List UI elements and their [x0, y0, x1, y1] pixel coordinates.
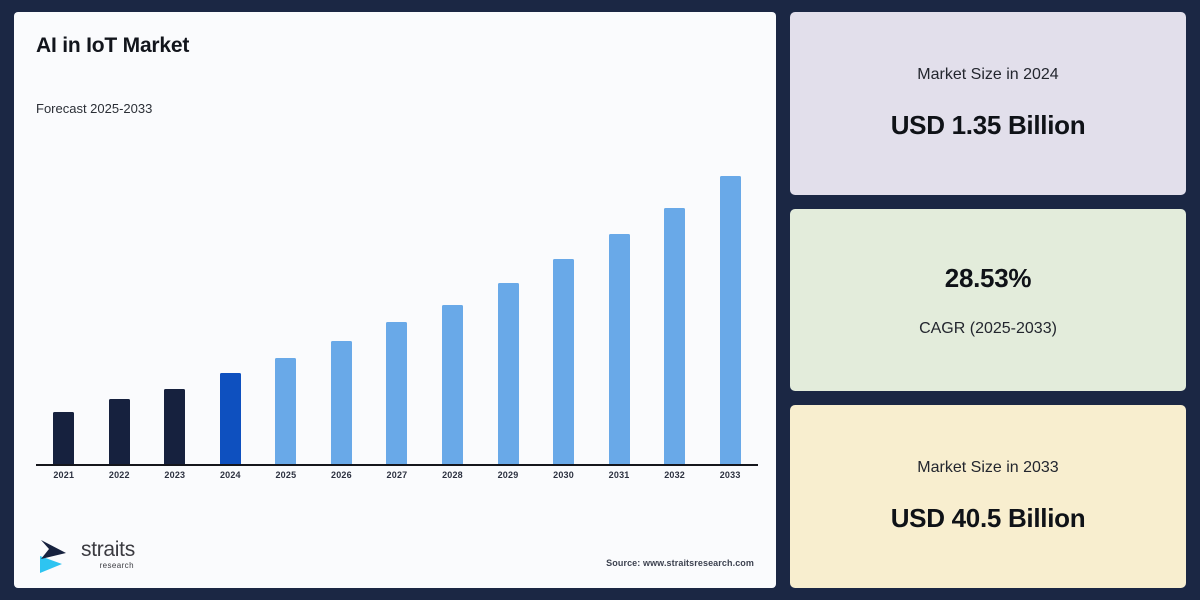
bar-2027[interactable] — [386, 322, 407, 464]
stat-label-market-size-2033: Market Size in 2033 — [917, 459, 1058, 477]
bar-slot — [702, 174, 758, 464]
straits-research-logo: straits research — [36, 534, 135, 574]
x-axis-label-2028: 2028 — [425, 470, 481, 480]
bar-2025[interactable] — [275, 358, 296, 464]
source-attribution: Source: www.straitsresearch.com — [606, 558, 754, 574]
stat-card-cagr: 28.53%CAGR (2025-2033) — [790, 209, 1186, 392]
x-axis-label-2023: 2023 — [147, 470, 203, 480]
logo-subword: research — [100, 562, 134, 570]
bar-slot — [36, 174, 92, 464]
x-axis-label-2030: 2030 — [536, 470, 592, 480]
bar-2031[interactable] — [609, 234, 630, 464]
bar-2026[interactable] — [331, 341, 352, 464]
x-axis-label-2033: 2033 — [702, 470, 758, 480]
bar-slot — [258, 174, 314, 464]
stat-card-market-size-2024: Market Size in 2024USD 1.35 Billion — [790, 12, 1186, 195]
bar-2030[interactable] — [553, 259, 574, 464]
chart-subtitle: Forecast 2025-2033 — [34, 101, 756, 116]
bar-slot — [480, 174, 536, 464]
stat-card-market-size-2033: Market Size in 2033USD 40.5 Billion — [790, 405, 1186, 588]
bar-slot — [425, 174, 481, 464]
chart-title: AI in IoT Market — [34, 34, 756, 58]
stat-card-list: Market Size in 2024USD 1.35 Billion28.53… — [790, 12, 1186, 588]
logo-word: straits — [81, 539, 135, 560]
bar-chart-plot-area — [36, 160, 758, 466]
stat-value-market-size-2033: USD 40.5 Billion — [891, 503, 1086, 534]
stat-value-cagr: 28.53% — [945, 263, 1031, 294]
bar-slot — [647, 174, 703, 464]
straits-research-arrow-logo-icon — [36, 534, 74, 574]
x-axis-line — [36, 464, 758, 466]
stat-label-cagr: CAGR (2025-2033) — [919, 320, 1057, 338]
bar-slot — [536, 174, 592, 464]
bar-2023[interactable] — [164, 389, 185, 464]
bar-2028[interactable] — [442, 305, 463, 464]
x-axis-label-2021: 2021 — [36, 470, 92, 480]
bar-2033[interactable] — [720, 176, 741, 464]
bar-2021[interactable] — [53, 412, 74, 464]
x-axis-label-2029: 2029 — [480, 470, 536, 480]
bar-2022[interactable] — [109, 399, 130, 464]
bar-slot — [591, 174, 647, 464]
x-axis-label-2022: 2022 — [92, 470, 148, 480]
bar-slot — [203, 174, 259, 464]
x-axis-label-2032: 2032 — [647, 470, 703, 480]
bar-slot — [92, 174, 148, 464]
x-axis-label-2027: 2027 — [369, 470, 425, 480]
x-axis-label-2024: 2024 — [203, 470, 259, 480]
bar-2032[interactable] — [664, 208, 685, 464]
bar-2029[interactable] — [498, 283, 519, 464]
stat-label-market-size-2024: Market Size in 2024 — [917, 66, 1058, 84]
chart-footer: straits research Source: www.straitsrese… — [36, 534, 754, 574]
bar-2024[interactable] — [220, 373, 241, 464]
stat-value-market-size-2024: USD 1.35 Billion — [891, 110, 1086, 141]
bar-slot — [314, 174, 370, 464]
bar-slot — [369, 174, 425, 464]
x-axis-label-2026: 2026 — [314, 470, 370, 480]
x-axis-tick-labels: 2021202220232024202520262027202820292030… — [36, 470, 758, 480]
bar-series — [36, 174, 758, 464]
x-axis-label-2031: 2031 — [591, 470, 647, 480]
logo-wordmark: straits research — [81, 539, 135, 570]
bar-slot — [147, 174, 203, 464]
x-axis-label-2025: 2025 — [258, 470, 314, 480]
chart-card: AI in IoT Market Forecast 2025-2033 2021… — [14, 12, 776, 588]
